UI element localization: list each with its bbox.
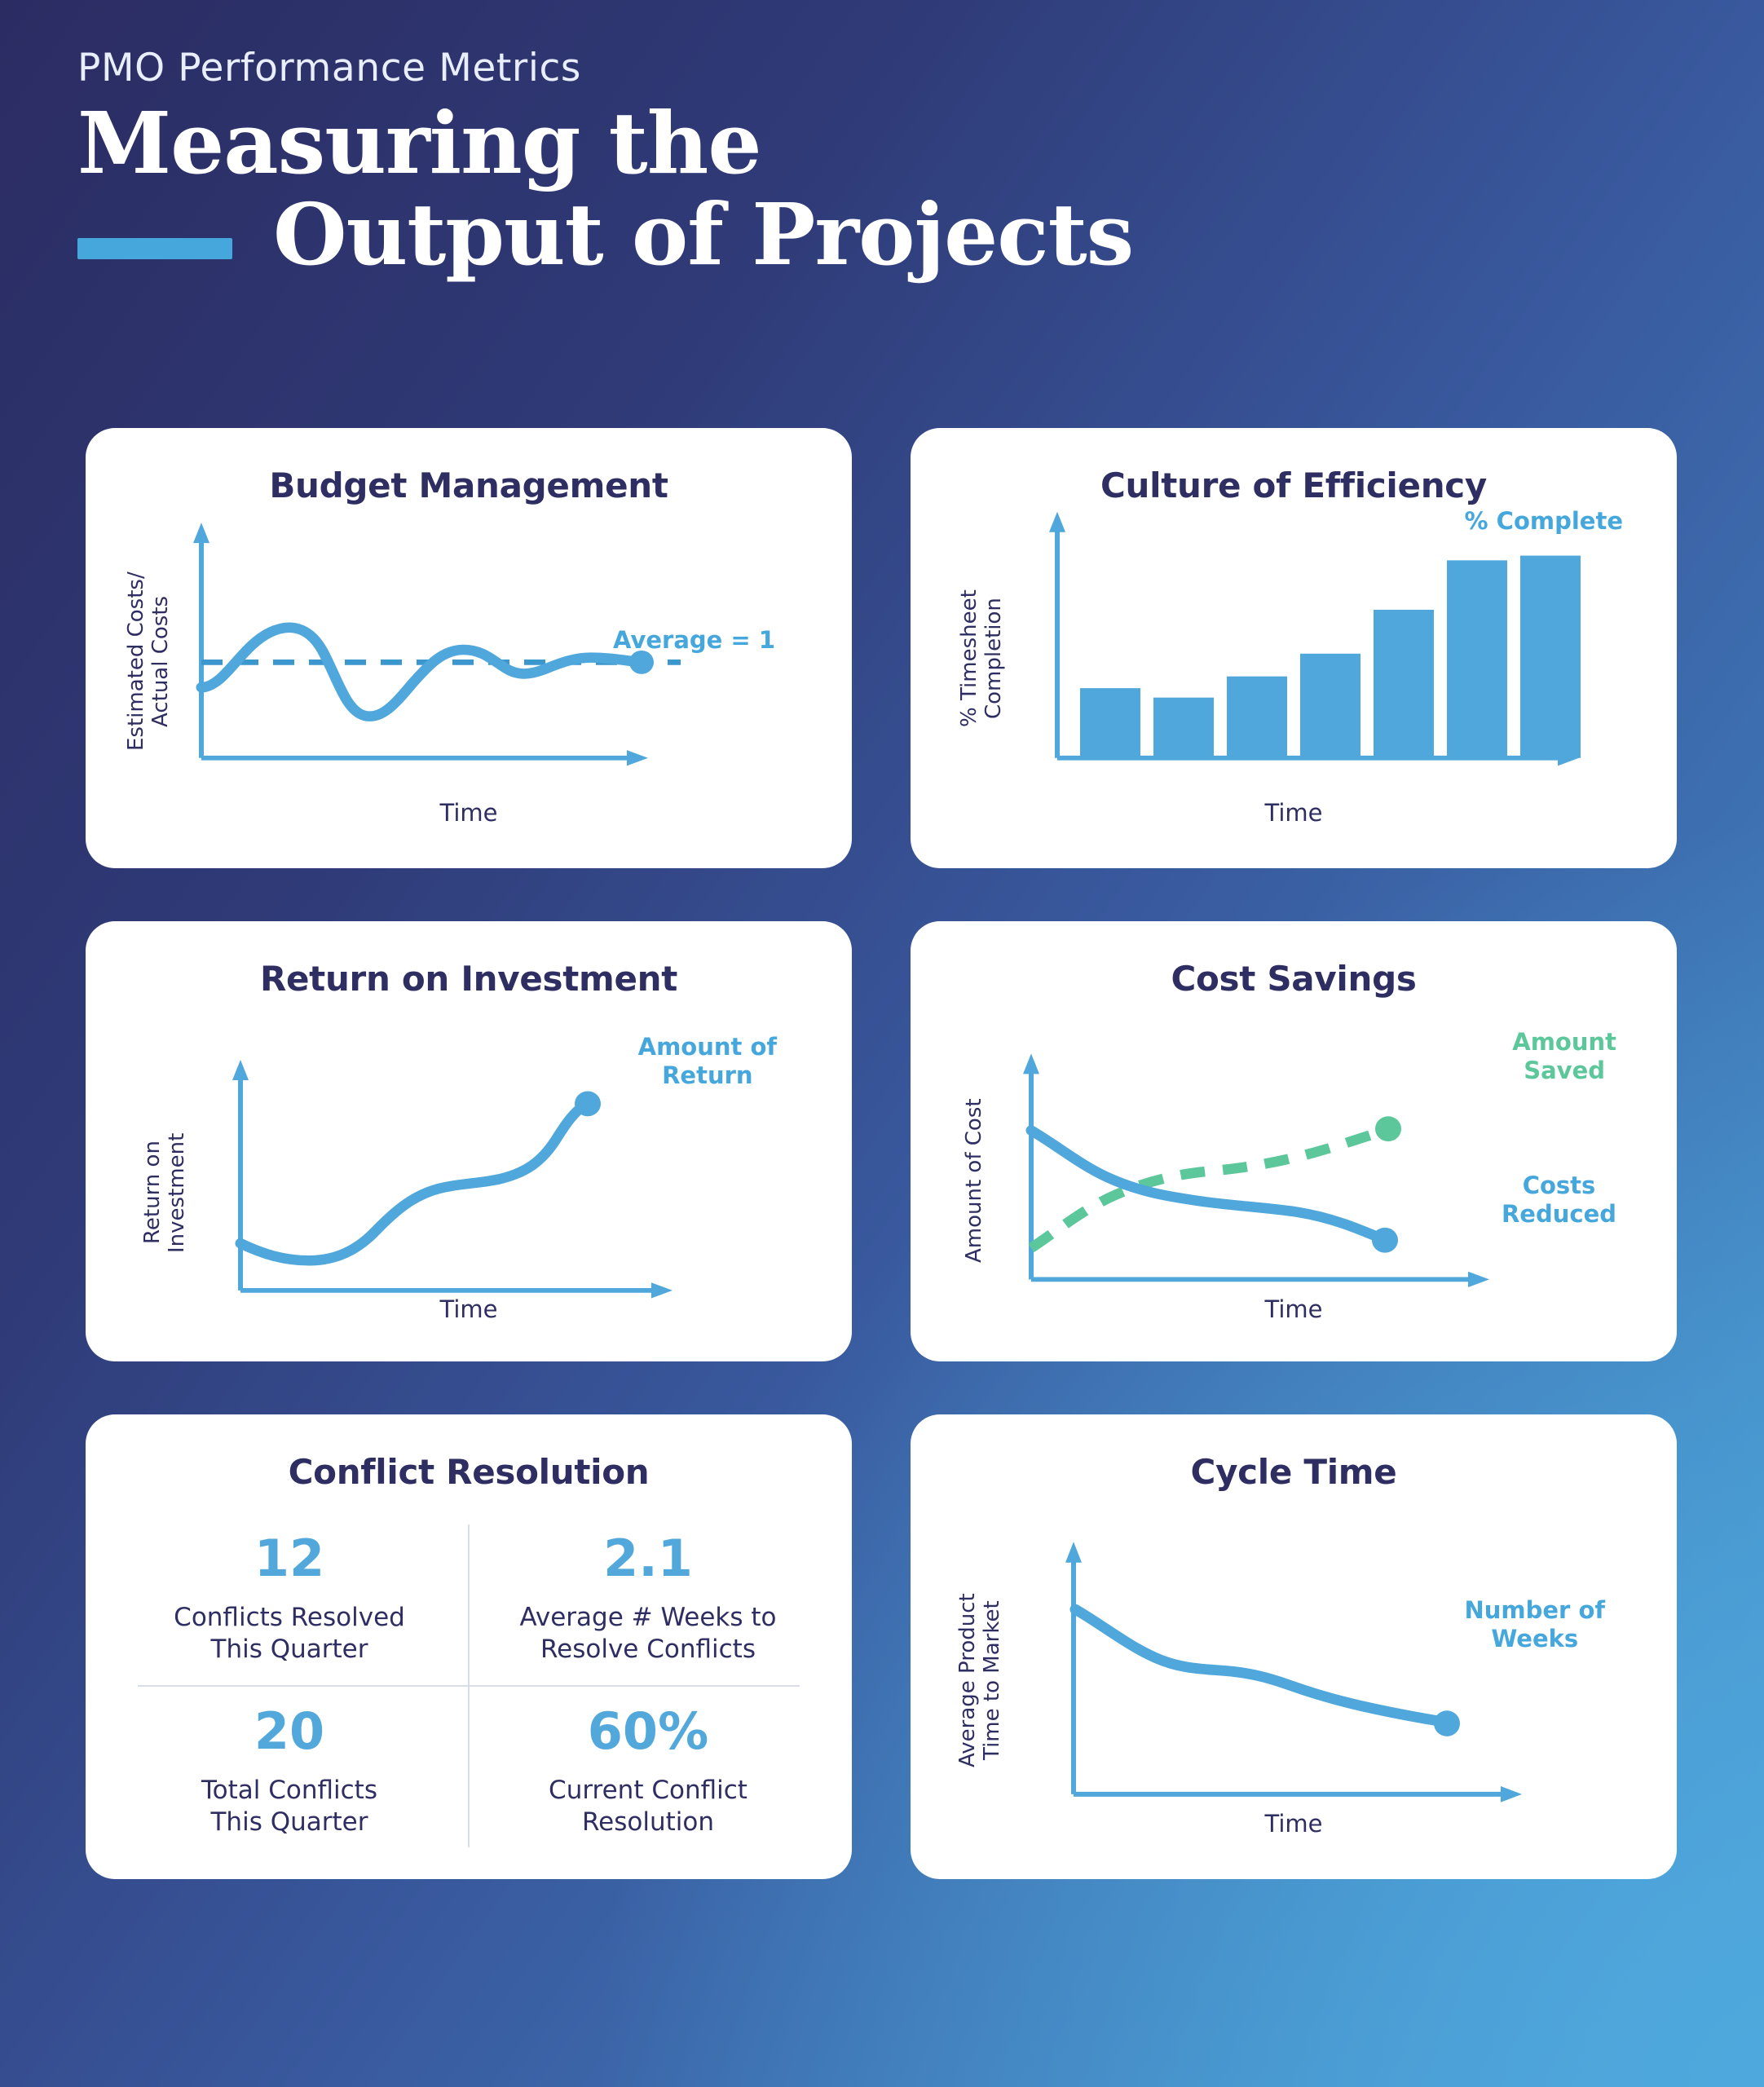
chart-culture-of-efficiency: % Timesheet Completion xyxy=(935,505,1652,835)
stat-conflicts-resolved: 12 Conflicts Resolved This Quarter xyxy=(110,1513,469,1686)
stat-value: 60% xyxy=(588,1706,708,1757)
series-label-amount-of-return: Amount of Return xyxy=(638,1033,777,1090)
chart-return-on-investment: Return on Investment Amount of Return Ti… xyxy=(110,999,827,1328)
bar-7 xyxy=(1520,556,1581,758)
card-budget-management: Budget Management Estimated Costs/ Actua… xyxy=(86,428,852,868)
y-axis-label-savings: Amount of Cost xyxy=(963,1046,987,1315)
bar-2 xyxy=(1153,698,1214,758)
y-axis-arrow xyxy=(193,523,209,543)
stat-label: Total Conflicts This Quarter xyxy=(201,1775,377,1838)
bar-6 xyxy=(1447,560,1507,757)
stat-average-weeks-to-resolve: 2.1 Average # Weeks to Resolve Conflicts xyxy=(469,1513,827,1686)
x-axis-arrow xyxy=(627,750,648,766)
stat-value: 2.1 xyxy=(603,1533,693,1584)
card-title-savings: Cost Savings xyxy=(935,959,1652,999)
card-conflict-resolution: Conflict Resolution 12 Conflicts Resolve… xyxy=(86,1414,852,1879)
y-axis-label-culture: % Timesheet Completion xyxy=(958,536,1007,781)
x-axis-arrow xyxy=(1468,1272,1489,1287)
title-line-1: Measuring the xyxy=(77,100,1463,187)
conflict-stats-grid: 12 Conflicts Resolved This Quarter 2.1 A… xyxy=(110,1513,827,1859)
metrics-grid: Budget Management Estimated Costs/ Actua… xyxy=(86,428,1679,1932)
x-axis-label-culture: Time xyxy=(935,799,1652,827)
card-cost-savings: Cost Savings Amount of Cost xyxy=(911,921,1677,1361)
y-axis-label-roi: Return on Investment xyxy=(141,1070,190,1315)
series-label-costs-reduced: Costs Reduced xyxy=(1502,1171,1616,1229)
kicker-text: PMO Performance Metrics xyxy=(77,49,1463,87)
x-axis-label-savings: Time xyxy=(935,1295,1652,1323)
card-title-roi: Return on Investment xyxy=(110,959,827,999)
amount-saved-endpoint-marker xyxy=(1375,1116,1401,1141)
stat-label: Average # Weeks to Resolve Conflicts xyxy=(519,1602,776,1666)
budget-cost-ratio-curve xyxy=(201,628,642,717)
title-line-2: Output of Projects xyxy=(77,192,1463,278)
card-title-budget: Budget Management xyxy=(110,465,827,505)
stat-value: 20 xyxy=(254,1706,324,1757)
series-label-percent-complete: % Complete xyxy=(1465,507,1623,536)
chart-cycle-time: Average Product Time to Market Number of… xyxy=(935,1492,1652,1846)
y-axis-arrow xyxy=(1049,512,1065,532)
title-accent-bar xyxy=(77,238,232,259)
y-axis-label-budget: Estimated Costs/ Actual Costs xyxy=(125,543,174,779)
page-title: Measuring the Output of Projects xyxy=(77,100,1463,278)
x-axis-arrow xyxy=(1501,1786,1522,1802)
budget-plot-svg xyxy=(110,505,827,835)
series-label-amount-saved: Amount Saved xyxy=(1512,1028,1616,1085)
card-title-conflict: Conflict Resolution xyxy=(110,1452,827,1492)
roi-endpoint-marker xyxy=(575,1092,601,1117)
bar-3 xyxy=(1227,677,1287,758)
roi-return-curve xyxy=(240,1105,584,1260)
cycle-endpoint-marker xyxy=(1434,1710,1460,1736)
metrics-row-1: Budget Management Estimated Costs/ Actua… xyxy=(86,428,1679,868)
stat-label: Conflicts Resolved This Quarter xyxy=(174,1602,405,1666)
metrics-row-2: Return on Investment Return on Investmen… xyxy=(86,921,1679,1361)
page-header: PMO Performance Metrics Measuring the Ou… xyxy=(77,49,1463,278)
amount-saved-curve xyxy=(1031,1131,1385,1248)
x-axis-label-roi: Time xyxy=(110,1295,827,1323)
x-axis-label-cycle: Time xyxy=(935,1810,1652,1838)
cycle-plot-svg xyxy=(935,1492,1652,1846)
bar-1 xyxy=(1080,688,1140,758)
card-culture-of-efficiency: Culture of Efficiency % Timesheet Comple… xyxy=(911,428,1677,868)
y-axis-arrow xyxy=(232,1060,249,1080)
card-title-culture: Culture of Efficiency xyxy=(935,465,1652,505)
bar-4 xyxy=(1300,654,1360,758)
y-axis-arrow xyxy=(1065,1542,1082,1563)
y-axis-arrow xyxy=(1023,1053,1039,1074)
stat-value: 12 xyxy=(254,1533,324,1584)
stat-total-conflicts: 20 Total Conflicts This Quarter xyxy=(110,1686,469,1859)
y-axis-label-cycle: Average Product Time to Market xyxy=(956,1546,1005,1815)
culture-plot-svg xyxy=(935,505,1652,835)
series-label-average: Average = 1 xyxy=(613,626,775,655)
card-cycle-time: Cycle Time Average Product Time to Marke… xyxy=(911,1414,1677,1879)
card-title-cycle: Cycle Time xyxy=(935,1452,1652,1492)
chart-cost-savings: Amount of Cost Amount Saved xyxy=(935,999,1652,1328)
stat-label: Current Conflict Resolution xyxy=(549,1775,747,1838)
card-return-on-investment: Return on Investment Return on Investmen… xyxy=(86,921,852,1361)
bar-5 xyxy=(1374,610,1434,758)
stats-horizontal-divider xyxy=(138,1685,800,1687)
x-axis-label-budget: Time xyxy=(110,799,827,827)
series-label-number-of-weeks: Number of Weeks xyxy=(1465,1596,1606,1653)
chart-budget-management: Estimated Costs/ Actual Costs Average xyxy=(110,505,827,835)
infographic-page: PMO Performance Metrics Measuring the Ou… xyxy=(0,0,1764,2087)
cycle-time-curve xyxy=(1075,1609,1444,1722)
metrics-row-3: Conflict Resolution 12 Conflicts Resolve… xyxy=(86,1414,1679,1879)
costs-reduced-endpoint-marker xyxy=(1372,1228,1398,1253)
stat-current-conflict-resolution: 60% Current Conflict Resolution xyxy=(469,1686,827,1859)
